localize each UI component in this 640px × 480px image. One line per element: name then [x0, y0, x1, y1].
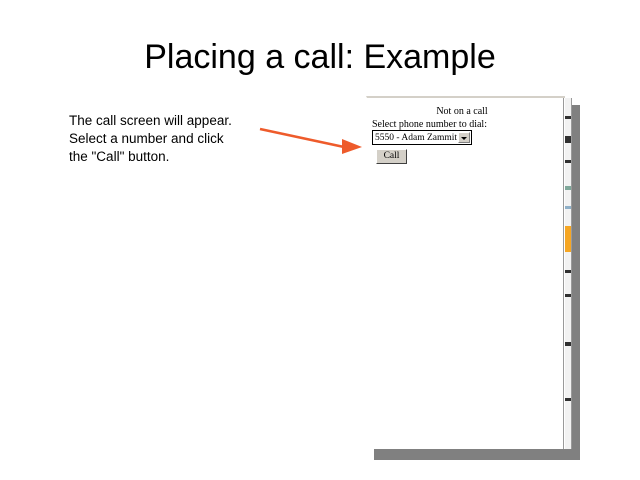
body-line: Select a number and click	[69, 130, 269, 148]
window-scrollbar[interactable]	[563, 98, 572, 449]
pointer-arrow-icon	[258, 123, 368, 157]
embedded-app-screenshot: Not on a call Select phone number to dia…	[366, 96, 572, 451]
scrollbar-mark	[565, 116, 571, 119]
call-button[interactable]: Call	[376, 149, 407, 164]
phone-number-select-value: 5550 - Adam Zammit	[375, 132, 457, 144]
slide-body-text: The call screen will appear. Select a nu…	[69, 112, 269, 166]
chevron-down-icon[interactable]	[458, 132, 470, 143]
call-screen-window: Not on a call Select phone number to dia…	[366, 96, 565, 449]
call-screen-content: Not on a call Select phone number to dia…	[367, 98, 565, 449]
scrollbar-mark	[565, 342, 571, 346]
scrollbar-mark	[565, 160, 571, 163]
scrollbar-thumb[interactable]	[565, 226, 571, 252]
body-line: The call screen will appear.	[69, 112, 269, 130]
body-line: the "Call" button.	[69, 148, 269, 166]
phone-number-select[interactable]: 5550 - Adam Zammit	[372, 130, 472, 145]
scrollbar-mark	[565, 294, 571, 297]
scrollbar-mark	[565, 186, 571, 190]
call-status-text: Not on a call	[367, 106, 557, 117]
scrollbar-mark	[565, 136, 571, 143]
page-title: Placing a call: Example	[0, 38, 640, 77]
scrollbar-track[interactable]	[565, 98, 571, 449]
scrollbar-mark	[565, 398, 571, 401]
dial-number-label: Select phone number to dial:	[372, 119, 487, 130]
scrollbar-mark	[565, 270, 571, 273]
scrollbar-mark	[565, 206, 571, 209]
